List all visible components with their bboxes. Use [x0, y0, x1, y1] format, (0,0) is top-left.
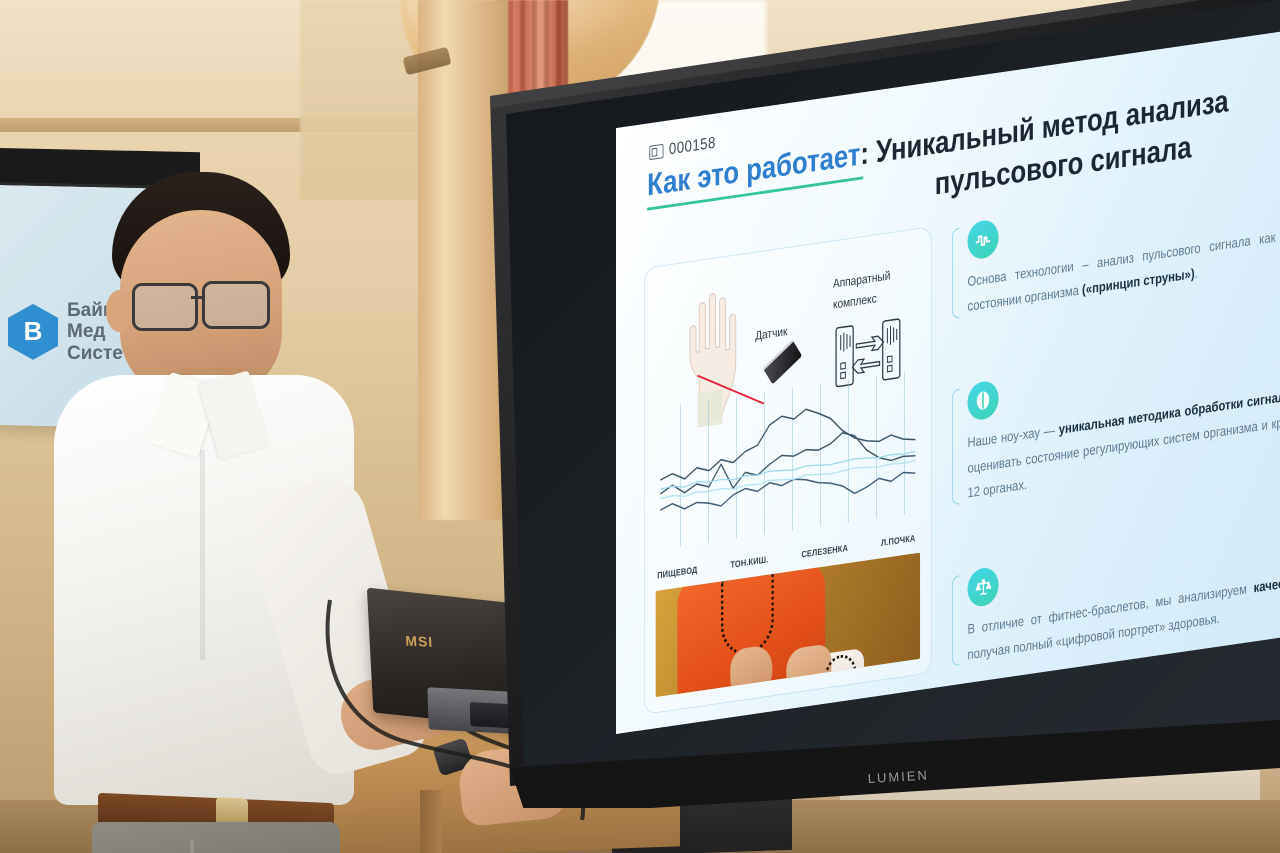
glasses-right-lens [202, 281, 270, 329]
info-card-1-text: Основа технологии – анализ пульсового си… [967, 212, 1280, 320]
card1-tail: . [1195, 267, 1198, 283]
brain-split-glyph [974, 388, 993, 413]
balance-scales-icon [967, 566, 998, 608]
screenshot-stage: B Байкал Мед Систе [0, 0, 1280, 853]
tv-svg: 000158 Как это работает: Уникальный мето… [470, 0, 1280, 808]
sensor-device [763, 339, 803, 384]
glasses-left-lens [132, 283, 198, 331]
card1-lead: Основа технологии – анализ пульсового си… [967, 217, 1280, 316]
slide-right-panel: Основа технологии – анализ пульсового си… [952, 163, 1280, 671]
trouser-crease [190, 840, 194, 853]
organ-label: ТОН.КИШ. [730, 555, 768, 571]
pulse-wave-icon [967, 218, 998, 260]
balance-scales-glyph [974, 575, 992, 599]
presenter-ear [106, 290, 132, 332]
glasses-bridge [191, 296, 204, 299]
chart-series-signal-1-dark [660, 394, 915, 483]
presentation-slide: 000158 Как это работает: Уникальный мето… [616, 15, 1280, 734]
presenter [40, 150, 370, 853]
slide-left-panel: Датчик Аппаратный комплекс [644, 226, 932, 715]
laptop-brand-logo: MSI [405, 633, 434, 650]
info-card-2-text: Наше ноу-хау — уникальная методика обраб… [967, 373, 1280, 506]
chart-series-signal-2-dark [660, 422, 915, 498]
slide-transform: 000158 Как это работает: Уникальный мето… [616, 15, 1280, 734]
organ-label: СЕЛЕЗЕНКА [801, 543, 848, 560]
organ-label: Л.ПОЧКА [881, 534, 915, 549]
card3-bold: качество кровотока [1254, 565, 1280, 597]
pulse-wave-glyph [974, 228, 991, 251]
shirt-placket [200, 450, 205, 660]
slide-card-icon [649, 143, 663, 159]
sensor-label: Датчик [755, 324, 787, 343]
trousers [92, 822, 340, 853]
card1-bold: («принцип струны») [1082, 267, 1195, 298]
organ-label: ПИЩЕВОД [657, 565, 697, 581]
brain-split-icon [967, 380, 998, 422]
slide-body: Датчик Аппаратный комплекс [644, 163, 1280, 715]
info-card-2: Наше ноу-хау — уникальная методика обраб… [952, 326, 1280, 509]
photo-practitioner-hand [730, 644, 772, 694]
card2-lead: Наше ноу-хау — [967, 423, 1058, 451]
hardware-label: Аппаратный комплекс [833, 261, 919, 315]
display-tv: 000158 Как это работает: Уникальный мето… [470, 0, 1280, 808]
desk-leg [420, 790, 442, 853]
